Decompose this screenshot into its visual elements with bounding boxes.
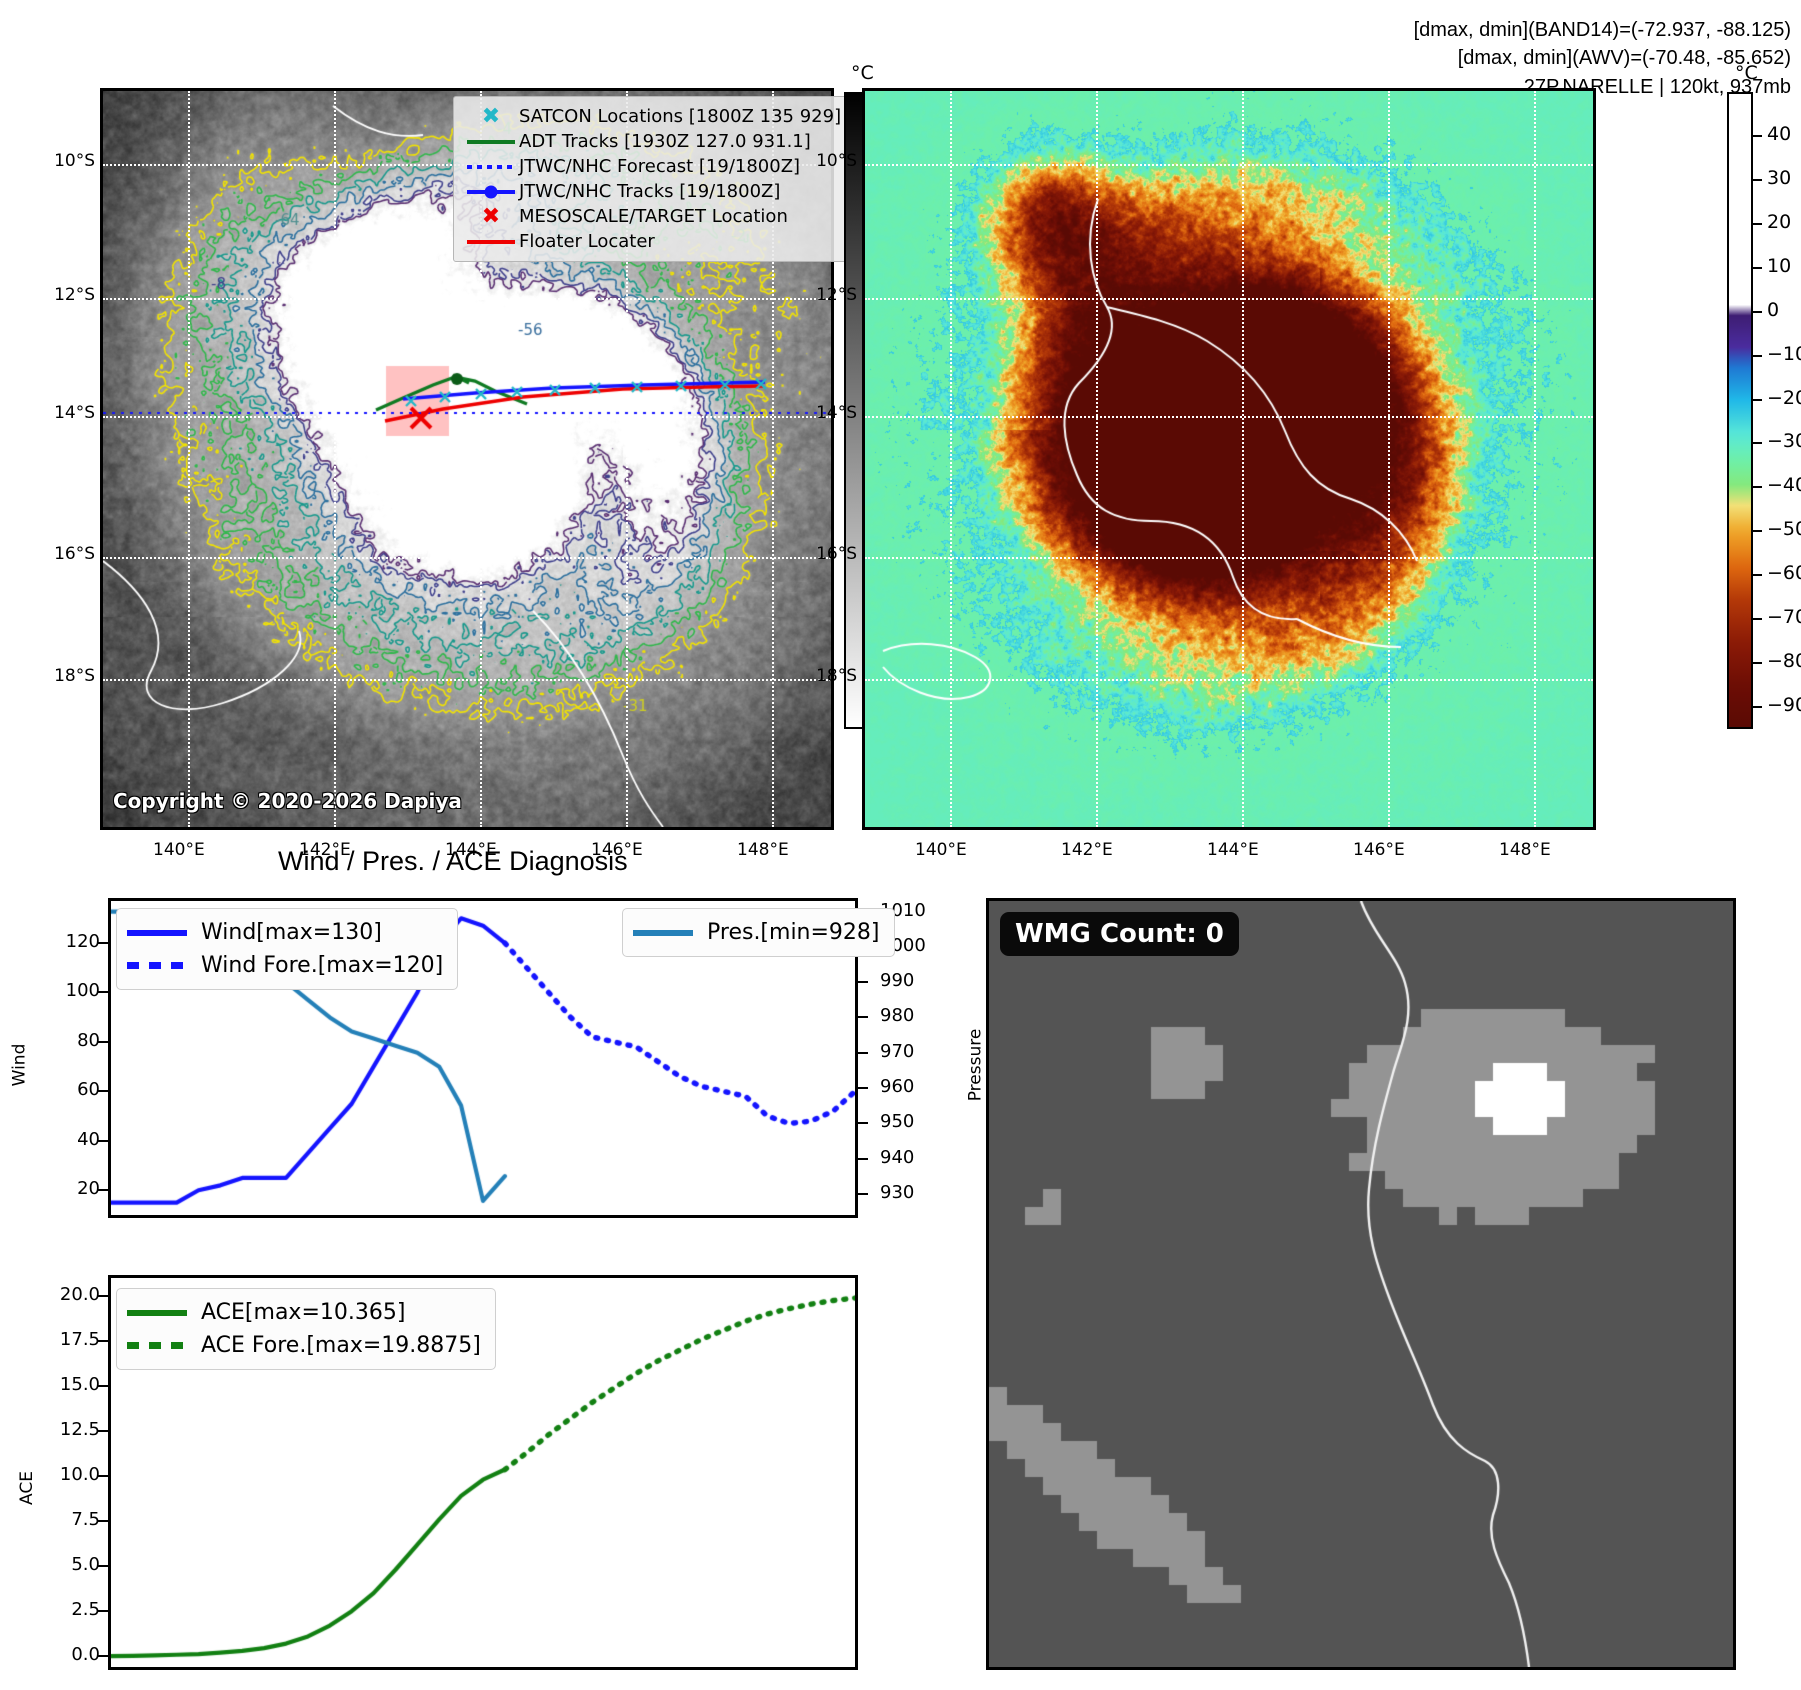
- ir-ytick-12S: 12°S: [40, 285, 95, 305]
- colorbar-tick-label: 30: [1767, 167, 1791, 189]
- solid-line-icon: [463, 240, 519, 244]
- ir-ytick-14S: 14°S: [40, 403, 95, 423]
- ir-ytick-16S: 16°S: [40, 544, 95, 564]
- colorbar-tickmark: [1753, 442, 1762, 444]
- diagnosis-title: Wind / Pres. / ACE Diagnosis: [278, 846, 628, 877]
- wmg-panel[interactable]: [986, 898, 1736, 1670]
- awv-map-panel[interactable]: [862, 88, 1596, 830]
- awv-colorbar-unit: °C: [1735, 62, 1758, 84]
- x-marker-icon: ✖: [463, 106, 519, 128]
- awv-colorbar: [1727, 92, 1753, 729]
- legend-label: MESOSCALE/TARGET Location: [519, 206, 788, 227]
- awv-xtick-140E: 140°E: [915, 840, 967, 860]
- axis-tick-label: 970: [880, 1041, 914, 1062]
- legend-label: SATCON Locations [1800Z 135 929]: [519, 106, 841, 127]
- colorbar-tickmark: [1753, 311, 1762, 313]
- legend-label: JTWC/NHC Forecast [19/1800Z]: [519, 156, 800, 177]
- colorbar-tick-label: −90: [1767, 694, 1801, 716]
- legend-label: Pres.[min=928]: [707, 920, 880, 945]
- colorbar-tickmark: [1753, 486, 1762, 488]
- wind-chart-legend[interactable]: Wind[max=130] Wind Fore.[max=120]: [116, 908, 458, 990]
- colorbar-tick-label: −20: [1767, 387, 1801, 409]
- dmax-dmin-band14: [dmax, dmin](BAND14)=(-72.937, -88.125): [1414, 16, 1791, 44]
- awv-ytick-14S: 14°S: [802, 403, 857, 423]
- colorbar-tick-label: 10: [1767, 255, 1791, 277]
- awv-xtick-146E: 146°E: [1353, 840, 1405, 860]
- legend-label: ADT Tracks [1930Z 127.0 931.1]: [519, 131, 811, 152]
- awv-image: [865, 91, 1593, 827]
- solid-line-icon: [127, 930, 201, 936]
- axis-tick-label: 990: [880, 970, 914, 991]
- awv-ytick-18S: 18°S: [802, 666, 857, 686]
- axis-tick-label: 2.5: [40, 1599, 100, 1620]
- axis-tickmark: [858, 1016, 868, 1018]
- awv-ytick-12S: 12°S: [802, 285, 857, 305]
- axis-tick-label: 40: [40, 1129, 100, 1150]
- legend-label: Wind Fore.[max=120]: [201, 953, 443, 978]
- axis-tick-label: 15.0: [40, 1374, 100, 1395]
- legend-item-adt[interactable]: ADT Tracks [1930Z 127.0 931.1]: [463, 129, 841, 154]
- axis-tickmark: [858, 1193, 868, 1195]
- ir-ytick-10S: 10°S: [40, 151, 95, 171]
- axis-tick-label: 950: [880, 1111, 914, 1132]
- legend-item-pressure[interactable]: Pres.[min=928]: [633, 916, 880, 949]
- colorbar-tickmark: [1753, 179, 1762, 181]
- axis-tick-label: 17.5: [40, 1329, 100, 1350]
- colorbar-tickmark: [1753, 574, 1762, 576]
- colorbar-tickmark: [1753, 618, 1762, 620]
- axis-tick-label: 12.5: [40, 1419, 100, 1440]
- colorbar-tick-label: 40: [1767, 123, 1791, 145]
- legend-label: JTWC/NHC Tracks [19/1800Z]: [519, 181, 780, 202]
- colorbar-tickmark: [1753, 706, 1762, 708]
- axis-tickmark: [858, 1158, 868, 1160]
- axis-tick-label: 10.0: [40, 1464, 100, 1485]
- ir-ytick-18S: 18°S: [40, 666, 95, 686]
- colorbar-tick-label: −80: [1767, 650, 1801, 672]
- ir-xtick-148E: 148°E: [737, 840, 789, 860]
- x-marker-icon: ✖: [463, 206, 519, 228]
- ace-chart-legend[interactable]: ACE[max=10.365] ACE Fore.[max=19.8875]: [116, 1288, 496, 1370]
- legend-item-wind[interactable]: Wind[max=130]: [127, 916, 443, 949]
- colorbar-tick-label: −70: [1767, 606, 1801, 628]
- legend-item-floater[interactable]: Floater Locater: [463, 229, 841, 254]
- pressure-axis-label: Pressure: [965, 1029, 985, 1102]
- legend-item-ace-forecast[interactable]: ACE Fore.[max=19.8875]: [127, 1329, 481, 1362]
- ir-map-legend[interactable]: ✖ SATCON Locations [1800Z 135 929] ADT T…: [453, 96, 853, 262]
- colorbar-tick-label: 0: [1767, 299, 1779, 321]
- pressure-chart-legend[interactable]: Pres.[min=928]: [622, 908, 895, 957]
- solid-line-icon: [633, 930, 707, 936]
- wmg-count-badge: WMG Count: 0: [1000, 912, 1239, 956]
- colorbar-tickmark: [1753, 530, 1762, 532]
- axis-tick-label: 7.5: [40, 1509, 100, 1530]
- axis-tick-label: 20: [40, 1178, 100, 1199]
- awv-xtick-144E: 144°E: [1207, 840, 1259, 860]
- ace-axis-label: ACE: [17, 1471, 37, 1505]
- axis-tick-label: 960: [880, 1076, 914, 1097]
- solid-line-icon: [463, 140, 519, 144]
- axis-tick-label: 60: [40, 1079, 100, 1100]
- wmg-image: [989, 901, 1733, 1667]
- axis-tick-label: 0.0: [40, 1644, 100, 1665]
- axis-tick-label: 80: [40, 1030, 100, 1051]
- axis-tick-label: 940: [880, 1147, 914, 1168]
- colorbar-tickmark: [1753, 223, 1762, 225]
- line-marker-icon: [463, 190, 519, 194]
- legend-item-jtwc-forecast[interactable]: JTWC/NHC Forecast [19/1800Z]: [463, 154, 841, 179]
- dotted-line-icon: [127, 962, 201, 969]
- axis-tick-label: 120: [40, 931, 100, 952]
- awv-xtick-148E: 148°E: [1499, 840, 1551, 860]
- axis-tick-label: 5.0: [40, 1554, 100, 1575]
- colorbar-tick-label: 20: [1767, 211, 1791, 233]
- axis-tick-label: 930: [880, 1182, 914, 1203]
- colorbar-tickmark: [1753, 662, 1762, 664]
- awv-ytick-16S: 16°S: [802, 544, 857, 564]
- copyright-text: Copyright © 2020-2026 Dapiya: [113, 789, 462, 813]
- colorbar-tick-label: −60: [1767, 562, 1801, 584]
- awv-xtick-142E: 142°E: [1061, 840, 1113, 860]
- dotted-line-icon: [463, 165, 519, 169]
- legend-item-jtwc-tracks[interactable]: JTWC/NHC Tracks [19/1800Z]: [463, 179, 841, 204]
- ir-xtick-140E: 140°E: [153, 840, 205, 860]
- legend-label: ACE[max=10.365]: [201, 1300, 405, 1325]
- colorbar-tick-label: −50: [1767, 518, 1801, 540]
- colorbar-tick-label: −40: [1767, 474, 1801, 496]
- axis-tick-label: 20.0: [40, 1284, 100, 1305]
- axis-tickmark: [858, 1122, 868, 1124]
- colorbar-tickmark: [1753, 135, 1762, 137]
- colorbar-tick-label: −30: [1767, 430, 1801, 452]
- awv-ytick-10S: 10°S: [802, 151, 857, 171]
- colorbar-tick-label: −10: [1767, 343, 1801, 365]
- colorbar-tickmark: [1753, 399, 1762, 401]
- colorbar-tickmark: [1753, 355, 1762, 357]
- axis-tickmark: [858, 1052, 868, 1054]
- axis-tick-label: 100: [40, 980, 100, 1001]
- dotted-line-icon: [127, 1342, 201, 1349]
- axis-tickmark: [858, 981, 868, 983]
- legend-label: ACE Fore.[max=19.8875]: [201, 1333, 481, 1358]
- legend-label: Wind[max=130]: [201, 920, 382, 945]
- legend-item-satcon[interactable]: ✖ SATCON Locations [1800Z 135 929]: [463, 104, 841, 129]
- legend-label: Floater Locater: [519, 231, 655, 252]
- legend-item-wind-forecast[interactable]: Wind Fore.[max=120]: [127, 949, 443, 982]
- wind-axis-label: Wind: [9, 1044, 29, 1087]
- colorbar-tickmark: [1753, 267, 1762, 269]
- solid-line-icon: [127, 1310, 201, 1316]
- legend-item-mesoscale[interactable]: ✖ MESOSCALE/TARGET Location: [463, 204, 841, 229]
- axis-tick-label: 980: [880, 1005, 914, 1026]
- legend-item-ace[interactable]: ACE[max=10.365]: [127, 1296, 481, 1329]
- axis-tickmark: [858, 1087, 868, 1089]
- ir-colorbar-unit: °C: [851, 62, 874, 84]
